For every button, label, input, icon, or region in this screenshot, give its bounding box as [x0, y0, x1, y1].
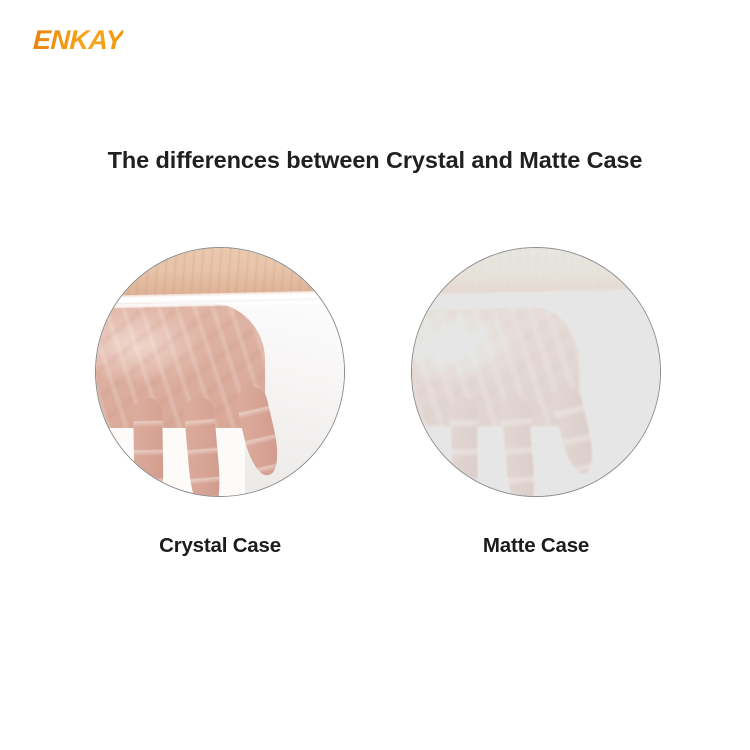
background-panel	[561, 302, 661, 497]
comparison-item-crystal: Crystal Case	[95, 247, 347, 558]
bare-skin-region	[411, 247, 661, 301]
matte-case-caption: Matte Case	[411, 534, 661, 558]
crystal-case-caption: Crystal Case	[95, 534, 345, 558]
page-title: The differences between Crystal and Matt…	[0, 147, 750, 174]
comparison-item-matte: Matte Case	[411, 247, 663, 558]
crystal-case-photo	[95, 247, 345, 497]
finger-index	[549, 383, 600, 478]
matte-hand-through-case-image	[411, 247, 661, 497]
palm-region	[411, 303, 581, 428]
crystal-hand-through-case-image	[95, 247, 345, 497]
finger-little	[95, 396, 102, 497]
finger-ring	[449, 398, 480, 497]
matte-case-photo	[411, 247, 661, 497]
finger-ring	[133, 398, 164, 497]
case-top-edge-highlight	[411, 290, 661, 310]
enkay-brand-logo: ENKAY	[33, 27, 124, 54]
product-comparison-page: ENKAY The differences between Crystal an…	[0, 0, 750, 750]
comparison-row: Crystal Case Matte Case	[0, 247, 750, 577]
finger-middle	[498, 396, 538, 497]
finger-little	[411, 396, 418, 497]
